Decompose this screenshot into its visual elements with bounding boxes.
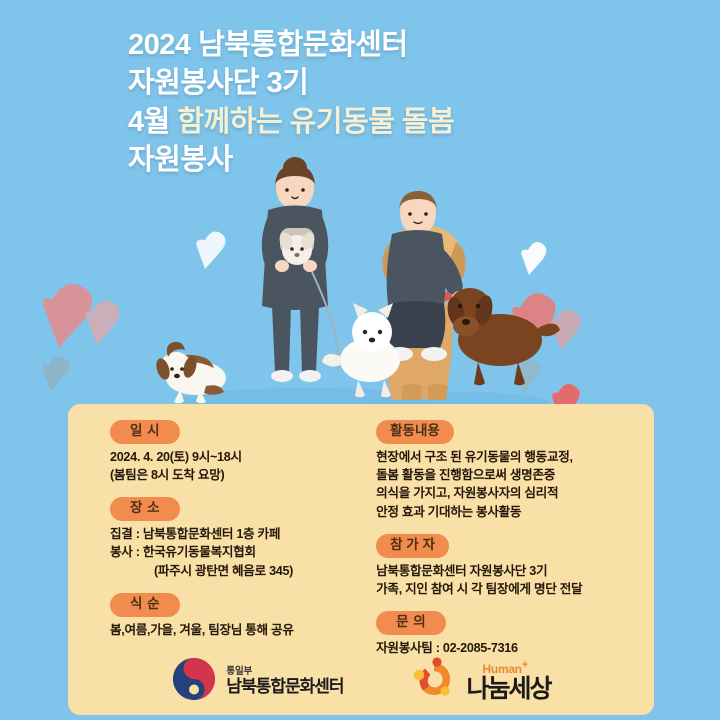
ministry-main-label: 남북통합문화센터: [226, 678, 343, 697]
taegeuk-icon: [171, 656, 217, 707]
activity-line-1: 현장에서 구조 된 유기동물의 행동교정,: [376, 448, 646, 466]
logo-ministry-of-unification: 통일부 남북통합문화센터: [171, 656, 343, 707]
logo-nanum-sesang: Human+ 나눔세상: [410, 655, 551, 708]
section-datetime: 일 시 2024. 4. 20(토) 9시~18시 (봄팀은 8시 도착 요망): [110, 420, 362, 484]
badge-activity: 활동내용: [376, 420, 454, 444]
datetime-line-2: (봄팀은 8시 도착 요망): [110, 466, 362, 484]
nanum-logo-text: Human+ 나눔세상: [467, 660, 551, 702]
title-line-1: 2024 남북통합문화센터: [128, 26, 688, 64]
section-activity: 활동내용 현장에서 구조 된 유기동물의 행동교정, 돌봄 활동을 진행함으로써…: [376, 420, 646, 521]
man-crouching-with-dog: [387, 191, 468, 361]
nanum-main-label: 나눔세상: [467, 676, 551, 702]
participants-line-1: 남북통합문화센터 자원봉사단 3기: [376, 562, 646, 580]
nanum-plus-sign: +: [522, 659, 528, 671]
badge-contact: 문 의: [376, 611, 446, 635]
location-line-3: (파주시 광탄면 혜음로 345): [110, 562, 362, 580]
participants-line-2: 가족, 지인 참여 시 각 팀장에게 명단 전달: [376, 580, 646, 598]
section-location: 장 소 집결 : 남북통합문화센터 1층 카페 봉사 : 한국유기동물복지협회 …: [110, 497, 362, 580]
pink-heart-large: [43, 284, 119, 348]
badge-schedule: 식 순: [110, 593, 180, 617]
footer-logos: 통일부 남북통합문화센터 Human+ 나눔세상: [68, 648, 654, 715]
activity-line-3: 의식을 가지고, 자원봉사자의 심리적: [376, 484, 646, 502]
poster-root: 2024 남북통합문화센터 자원봉사단 3기 4월 함께하는 유기동물 돌봄 자…: [0, 0, 720, 720]
badge-location: 장 소: [110, 497, 180, 521]
badge-datetime: 일 시: [110, 420, 180, 444]
white-heart: [196, 231, 225, 269]
woman-holding-puppy: [262, 157, 338, 382]
info-columns: 일 시 2024. 4. 20(토) 9시~18시 (봄팀은 8시 도착 요망)…: [68, 416, 654, 668]
title-line-2: 자원봉사단 3기: [128, 64, 688, 102]
title-line-3: 4월 함께하는 유기동물 돌봄: [128, 103, 688, 141]
title-line-3-rest: 함께하는 유기동물 돌봄: [177, 106, 454, 138]
activity-line-4: 안정 효과 기대하는 봉사활동: [376, 503, 646, 521]
nanum-human-word: Human: [483, 662, 522, 676]
section-schedule: 식 순 봄,여름,가을, 겨울, 팀장님 통해 공유: [110, 593, 362, 639]
ministry-sub-label: 통일부: [226, 666, 343, 677]
ministry-logo-text: 통일부 남북통합문화센터: [226, 666, 343, 697]
location-line-1: 집결 : 남북통합문화센터 1층 카페: [110, 525, 362, 543]
title-line-3-month: 4월: [128, 106, 177, 138]
info-column-left: 일 시 2024. 4. 20(토) 9시~18시 (봄팀은 8시 도착 요망)…: [76, 416, 362, 668]
title-line-4: 자원봉사: [128, 141, 688, 179]
nanum-circle-icon: [410, 655, 458, 708]
poster-title: 2024 남북통합문화센터 자원봉사단 3기 4월 함께하는 유기동물 돌봄 자…: [128, 26, 688, 179]
badge-participants: 참 가 자: [376, 534, 449, 558]
section-participants: 참 가 자 남북통합문화센터 자원봉사단 3기 가족, 지인 참여 시 각 팀장…: [376, 534, 646, 598]
location-line-2: 봉사 : 한국유기동물복지협회: [110, 543, 362, 561]
gray-heart-left: [42, 356, 69, 391]
illustration-volunteers-with-dogs: [0, 150, 720, 412]
nanum-human-label: Human+: [483, 660, 551, 675]
white-heart-right: [521, 242, 546, 275]
activity-line-2: 돌봄 활동을 진행함으로써 생명존중: [376, 466, 646, 484]
datetime-line-1: 2024. 4. 20(토) 9시~18시: [110, 448, 362, 466]
beagle-puppy: [154, 342, 226, 403]
schedule-line-1: 봄,여름,가을, 겨울, 팀장님 통해 공유: [110, 621, 362, 639]
info-column-right: 활동내용 현장에서 구조 된 유기동물의 행동교정, 돌봄 활동을 진행함으로써…: [362, 416, 646, 668]
